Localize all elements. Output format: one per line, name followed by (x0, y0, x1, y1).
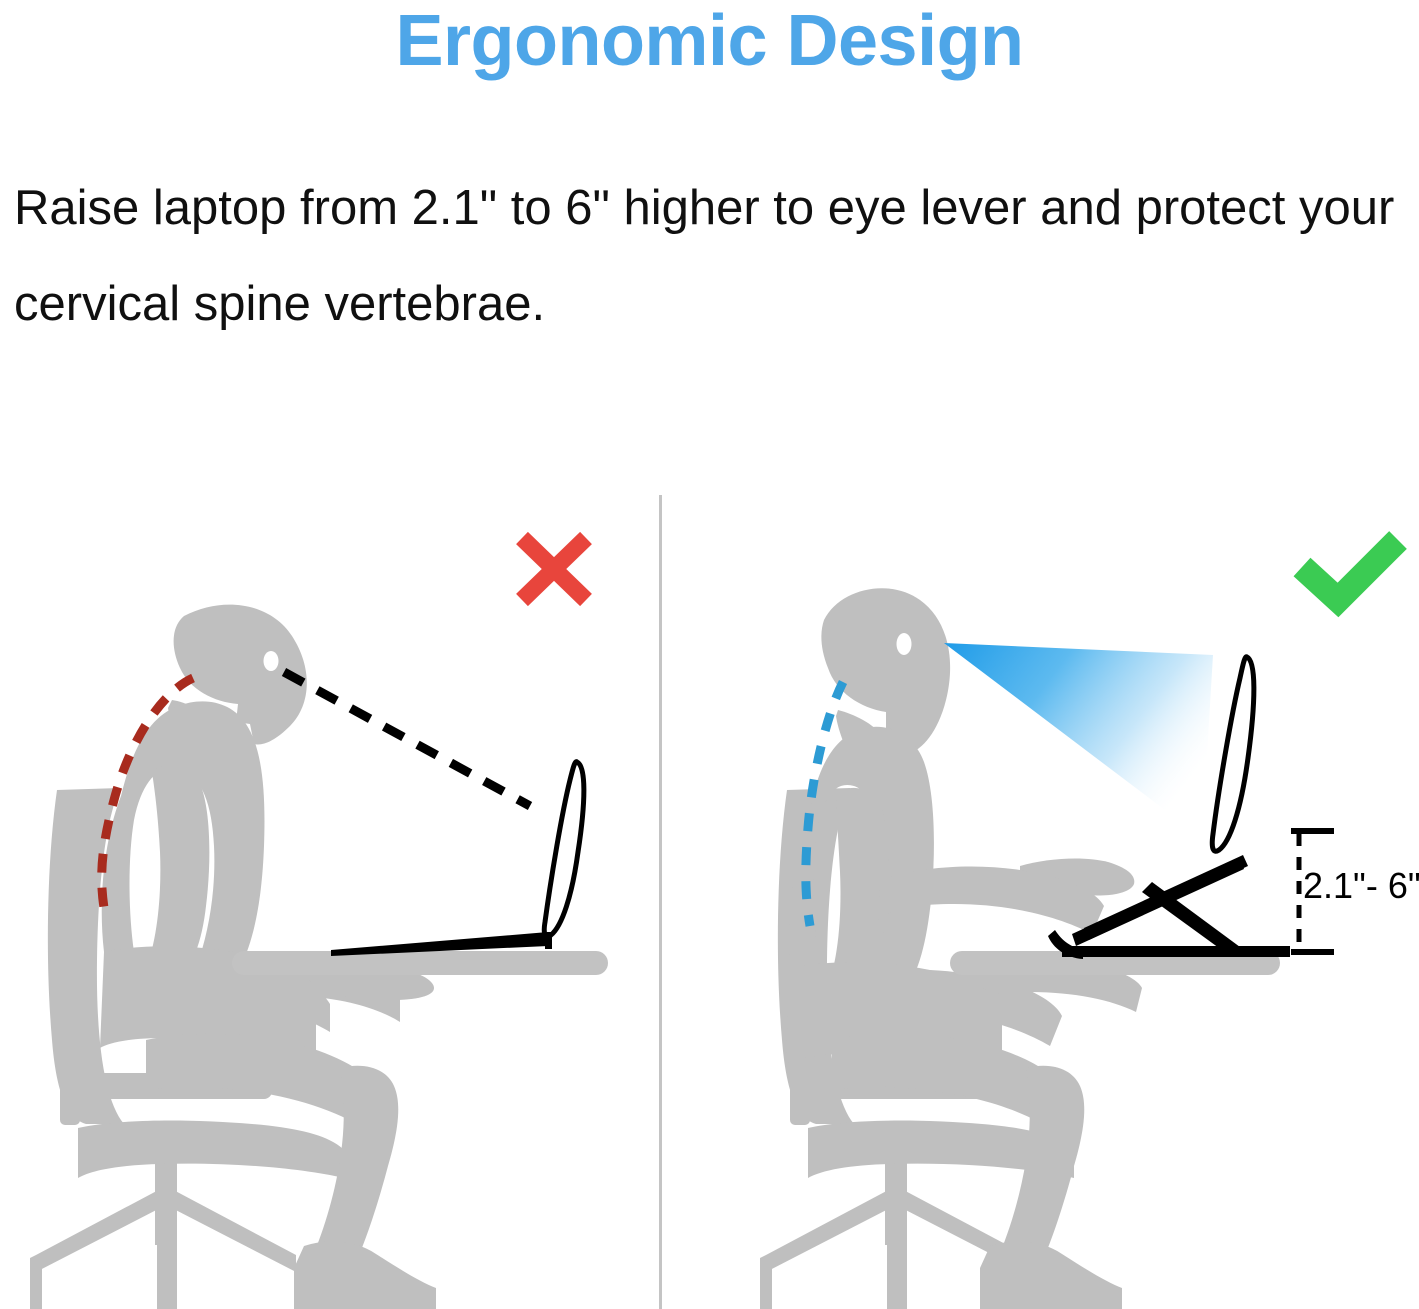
check-icon (1302, 540, 1398, 600)
cross-icon (522, 538, 586, 600)
desk-bad (232, 951, 608, 975)
illustration-area (0, 0, 1419, 1309)
right-panel-good-posture (760, 540, 1398, 1309)
sight-line-bad (284, 672, 530, 806)
ergonomics-illustration (0, 0, 1419, 1309)
infographic-page: Ergonomic Design Raise laptop from 2.1" … (0, 0, 1419, 1309)
laptop-bad (331, 762, 584, 956)
panel-divider (659, 495, 662, 1309)
vision-cone (944, 643, 1213, 838)
height-measurement-label: 2.1"- 6" (1303, 866, 1419, 906)
left-panel-bad-posture (30, 538, 608, 1309)
